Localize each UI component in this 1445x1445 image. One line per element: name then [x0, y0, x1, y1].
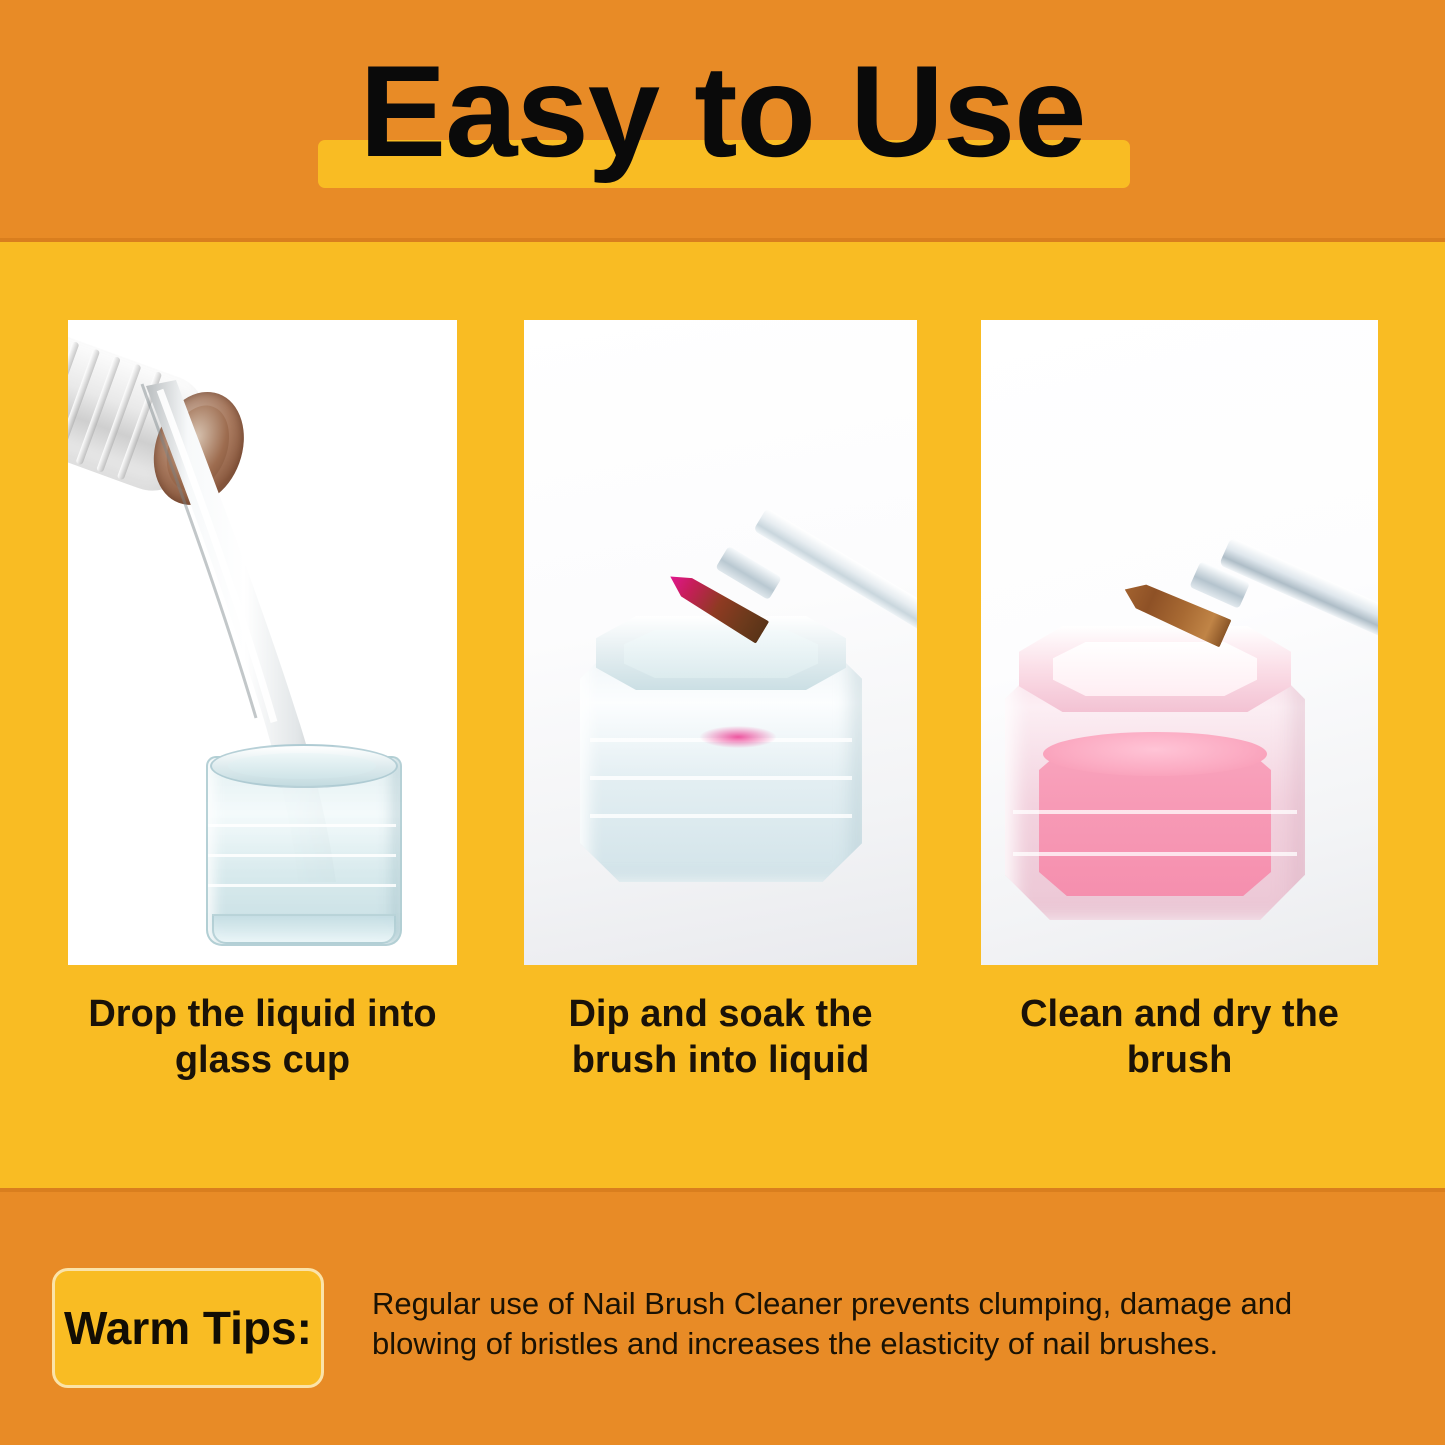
- header-banner: Easy to Use: [0, 0, 1445, 242]
- step-1-photo: [68, 320, 457, 965]
- glass-cup: [206, 738, 398, 942]
- infographic-page: Easy to Use: [0, 0, 1445, 1445]
- title-block: Easy to Use: [0, 36, 1445, 206]
- page-title: Easy to Use: [0, 36, 1445, 186]
- step-item-1: Drop the liquid into glass cup: [68, 320, 457, 1083]
- step-2-caption: Dip and soak the brush into liquid: [524, 991, 917, 1083]
- steps-row: Drop the liquid into glass cup: [0, 242, 1445, 1188]
- step-3-photo: [981, 320, 1378, 965]
- step-item-2: Dip and soak the brush into liquid: [524, 320, 917, 1083]
- nail-brush: [654, 516, 917, 736]
- warm-tips-label: Warm Tips:: [64, 1301, 312, 1355]
- nail-brush: [1133, 538, 1378, 728]
- step-item-3: Clean and dry the brush: [981, 320, 1378, 1083]
- pink-liquid-surface: [1043, 732, 1267, 776]
- cup-rim-inner: [228, 753, 376, 779]
- brush-ferrule: [715, 546, 782, 600]
- cup-base: [212, 914, 396, 944]
- warm-tips-text: Regular use of Nail Brush Cleaner preven…: [372, 1284, 1398, 1364]
- warm-tips-badge: Warm Tips:: [52, 1268, 324, 1388]
- warm-tips-section: Warm Tips: Regular use of Nail Brush Cle…: [0, 1188, 1445, 1445]
- step-1-caption: Drop the liquid into glass cup: [68, 991, 457, 1083]
- steps-section: Drop the liquid into glass cup: [0, 242, 1445, 1188]
- step-2-photo: [524, 320, 917, 965]
- step-3-caption: Clean and dry the brush: [981, 991, 1378, 1083]
